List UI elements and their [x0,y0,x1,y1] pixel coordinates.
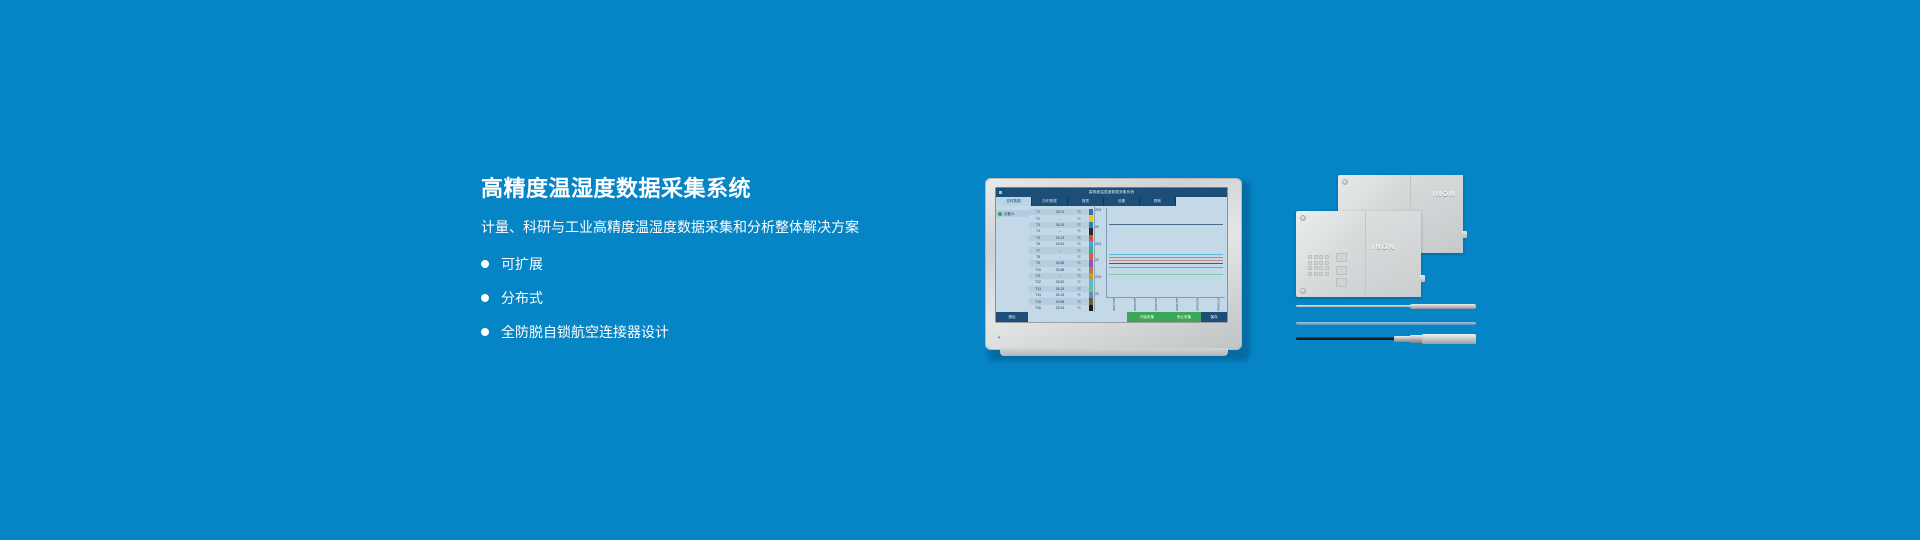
tab-history[interactable]: 历史数据 [1032,197,1068,206]
probe-cable [1296,337,1398,340]
brand-logo: INON [1433,191,1457,198]
x-axis-tick: 16:20:00 [1133,299,1137,311]
aviation-connector-icon [1336,253,1347,262]
monitor-device: 高精度温湿度数据采集系统 实时数据 历史数据 报表 设置 帮助 [985,178,1250,363]
cell-value: 26.19 [1047,223,1073,227]
x-axis-tick: 16:10:00 [1112,299,1116,311]
feature-label: 分布式 [501,290,543,307]
temperature-probe [1296,303,1476,309]
cell-value: 26.15 [1047,293,1073,297]
y-axis-tick: 24 [1095,258,1099,262]
monitor-brand-logo: ✦ [997,335,1002,341]
cell-channel: T6 [1029,242,1047,246]
data-logger-front-panel: INON [1365,211,1421,297]
cell-value: 25.01 [1047,210,1073,214]
x-axis-tick: 16:50:00 [1196,299,1200,311]
chart-series-line [1109,254,1223,255]
chart-series-line [1109,263,1223,264]
tab-help[interactable]: 帮助 [1140,197,1176,206]
device-tree: 设备01 [996,206,1029,312]
channel-color-legend [1089,206,1093,312]
page-subtitle: 计量、科研与工业高精度温湿度数据采集和分析整体解决方案 [481,218,951,238]
x-axis-tick: 16:30:00 [1154,299,1158,311]
terminal-cell [1319,266,1323,270]
terminal-cell [1314,255,1318,259]
terminal-cell [1325,261,1329,265]
cell-channel: T14 [1029,293,1047,297]
cell-unit: ℃ [1073,268,1085,272]
connector-icon [1462,231,1467,238]
y-axis-tick: 24.5 [1095,242,1101,246]
y-axis-tick: 25 [1095,225,1099,229]
port-panel [1308,253,1360,283]
terminal-cell [1314,261,1318,265]
app-body: 设备01 T125.01℃T2--℃T326.19℃T4--℃T525.13℃T… [996,206,1227,312]
cell-unit: ℃ [1073,210,1085,214]
cell-unit: ℃ [1073,261,1085,265]
product-banner: 高精度温湿度数据采集系统 计量、科研与工业高精度温湿度数据采集和分析整体解决方案… [0,0,1920,540]
app-titlebar: 高精度温湿度数据采集系统 [996,188,1227,197]
cell-value: 26.58 [1047,261,1073,265]
cell-value: -- [1047,274,1073,278]
cell-channel: T1 [1029,210,1047,214]
terminal-cell [1308,255,1312,259]
cell-unit: ℃ [1073,293,1085,297]
list-item: 全防脱自锁航空连接器设计 [481,324,951,341]
monitor-chin: ✦ [985,328,1242,350]
probe-rod [1296,305,1416,307]
bullet-icon [481,260,489,268]
cell-unit: ℃ [1073,287,1085,291]
cell-channel: T11 [1029,274,1047,278]
cell-unit: ℃ [1073,242,1085,246]
cell-value: 25.61 [1047,242,1073,246]
bullet-icon [481,294,489,302]
cell-channel: T2 [1029,217,1047,221]
hardware-group: INON [1296,175,1476,360]
cell-channel: T16 [1029,306,1047,310]
probe-tip [1410,304,1476,309]
chart-y-axis: 25.52524.52423.523 [1095,206,1106,298]
cell-value: -- [1047,255,1073,259]
screw-icon [1300,215,1306,221]
cell-value: 25.94 [1047,306,1073,310]
cell-unit: ℃ [1073,306,1085,310]
bullet-icon [481,328,489,336]
app-tabbar: 实时数据 历史数据 报表 设置 帮助 [996,197,1227,206]
channel-table: T125.01℃T2--℃T326.19℃T4--℃T525.13℃T625.6… [1029,206,1089,312]
tab-settings[interactable]: 设置 [1104,197,1140,206]
chart-series-line [1109,274,1223,275]
cell-unit: ℃ [1073,280,1085,284]
x-axis-tick: 16:40:00 [1175,299,1179,311]
chart-plot-area [1106,208,1225,298]
humidity-probe [1296,321,1476,325]
monitor-screen-frame: 高精度温湿度数据采集系统 实时数据 历史数据 报表 设置 帮助 [995,187,1228,323]
page-title: 高精度温湿度数据采集系统 [481,176,951,202]
x-axis-tick: 17:00:00 [1217,299,1221,311]
connector-column [1336,253,1347,287]
cell-channel: T8 [1029,255,1047,259]
y-axis-tick: 23 [1095,292,1099,296]
terminal-cell [1325,266,1329,270]
cell-value: 25.13 [1047,236,1073,240]
stop-capture-button[interactable]: 停止采集 [1167,312,1201,322]
monitor-stand [1000,348,1228,356]
y-axis-tick: 23.5 [1095,275,1101,279]
tree-item-label: 设备01 [1004,211,1015,216]
probe-barrel [1422,334,1476,344]
cell-channel: T9 [1029,261,1047,265]
probe-rod [1296,322,1476,325]
save-button[interactable]: 保存 [1201,312,1227,322]
app-screen: 高精度温湿度数据采集系统 实时数据 历史数据 报表 设置 帮助 [996,188,1227,322]
cell-unit: ℃ [1073,249,1085,253]
aviation-connector-icon [1336,266,1347,275]
cell-channel: T13 [1029,287,1047,291]
screw-icon [1300,288,1306,294]
cell-value: 26.28 [1047,287,1073,291]
cell-unit: ℃ [1073,223,1085,227]
window-title: 高精度温湿度数据采集系统 [996,190,1227,195]
cell-channel: T12 [1029,280,1047,284]
cell-channel: T4 [1029,229,1047,233]
trend-chart: 25.52524.52423.523 16:10:0016:20:0016:30… [1094,206,1227,312]
cell-unit: ℃ [1073,236,1085,240]
hero-copy: 高精度温湿度数据采集系统 计量、科研与工业高精度温湿度数据采集和分析整体解决方案… [481,176,951,357]
tree-item-device[interactable]: 设备01 [996,210,1029,217]
legend-swatch [1089,305,1093,311]
start-capture-button[interactable]: 开始采集 [1127,312,1167,322]
table-row[interactable]: T1625.94℃ [1029,305,1089,311]
connector-icon [1420,275,1425,282]
cell-unit: ℃ [1073,229,1085,233]
chart-x-axis: 16:10:0016:20:0016:30:0016:40:0016:50:00… [1106,298,1225,312]
cell-value: -- [1047,229,1073,233]
terminal-cell [1325,255,1329,259]
y-axis-tick: 25.5 [1095,208,1101,212]
device-online-icon [998,212,1002,216]
cell-unit: ℃ [1073,255,1085,259]
cell-channel: T7 [1029,249,1047,253]
bottombar-spacer [1028,312,1127,322]
terminal-cell [1308,272,1312,276]
cell-channel: T10 [1029,268,1047,272]
terminal-cell [1325,272,1329,276]
monitor-bezel: 高精度温湿度数据采集系统 实时数据 历史数据 报表 设置 帮助 [985,178,1242,350]
data-logger-front: INON [1296,211,1421,297]
feature-label: 可扩展 [501,256,543,273]
cell-channel: T3 [1029,223,1047,227]
terminal-cell [1319,261,1323,265]
cell-unit: ℃ [1073,274,1085,278]
exit-button[interactable]: 退出 [996,312,1028,322]
cell-unit: ℃ [1073,300,1085,304]
brand-logo: INON [1372,244,1396,251]
chart-series-line [1109,260,1223,261]
chart-series-line [1109,267,1223,268]
app-bottombar: 退出 开始采集 停止采集 保存 [996,312,1227,322]
tabbar-filler [1176,197,1227,206]
screw-icon [1342,179,1348,185]
list-item: 分布式 [481,290,951,307]
terminal-grid [1308,255,1329,276]
cell-value: -- [1047,249,1073,253]
terminal-cell [1319,272,1323,276]
feature-label: 全防脱自锁航空连接器设计 [501,324,669,341]
tab-realtime[interactable]: 实时数据 [996,197,1032,206]
cell-value: 26.98 [1047,300,1073,304]
feature-list: 可扩展 分布式 全防脱自锁航空连接器设计 [481,256,951,340]
cell-unit: ℃ [1073,217,1085,221]
list-item: 可扩展 [481,256,951,273]
cell-channel: T15 [1029,300,1047,304]
cell-value: -- [1047,217,1073,221]
aviation-connector-probe [1296,333,1476,344]
cell-value: 25.88 [1047,268,1073,272]
cell-channel: T5 [1029,236,1047,240]
tab-report[interactable]: 报表 [1068,197,1104,206]
aviation-connector-icon [1336,278,1347,287]
chart-series-line [1109,224,1223,225]
terminal-cell [1319,255,1323,259]
chart-series-line [1109,257,1223,258]
terminal-cell [1308,261,1312,265]
terminal-cell [1314,272,1318,276]
cell-value: 25.92 [1047,280,1073,284]
terminal-cell [1314,266,1318,270]
terminal-cell [1308,266,1312,270]
